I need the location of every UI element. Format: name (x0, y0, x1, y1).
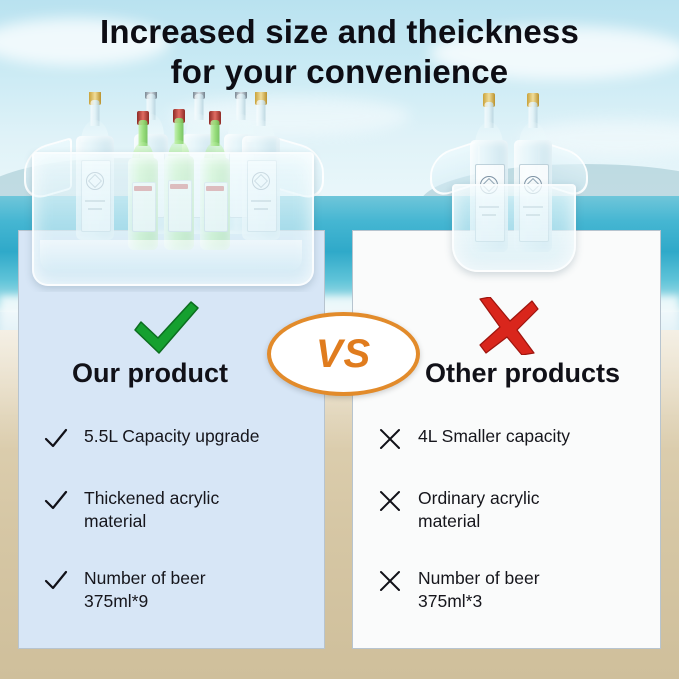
headline: Increased size and theickness for your c… (0, 12, 679, 92)
left-feature-text-3: Number of beer 375ml*9 (84, 567, 206, 613)
right-column-heading: Other products (425, 358, 620, 389)
acrylic-ice-bucket-small (452, 184, 576, 272)
right-feature-text-1: 4L Smaller capacity (418, 425, 570, 448)
right-feature-item-2: Ordinary acrylic material (378, 487, 540, 533)
vs-badge: VS (267, 312, 420, 396)
check-mark-large (131, 300, 201, 356)
right-feature-text-3: Number of beer 375ml*3 (418, 567, 540, 613)
left-feature-text-1: 5.5L Capacity upgrade (84, 425, 259, 448)
check-icon (44, 489, 68, 513)
check-icon (44, 569, 68, 593)
right-feature-item-1: 4L Smaller capacity (378, 425, 570, 451)
cross-icon (378, 427, 402, 451)
cross-icon (378, 489, 402, 513)
headline-line-1: Increased size and theickness (0, 12, 679, 52)
cross-mark-large (474, 297, 540, 355)
left-feature-item-3: Number of beer 375ml*9 (44, 567, 206, 613)
left-product-photo (18, 92, 325, 292)
product-comparison-image: Increased size and theickness for your c… (0, 0, 679, 679)
left-feature-item-1: 5.5L Capacity upgrade (44, 425, 259, 451)
left-column-heading: Our product (72, 358, 228, 389)
vs-label: VS (316, 332, 371, 377)
cross-icon (378, 569, 402, 593)
left-feature-item-2: Thickened acrylic material (44, 487, 219, 533)
right-feature-text-2: Ordinary acrylic material (418, 487, 540, 533)
right-product-photo (352, 92, 661, 292)
headline-line-2: for your convenience (0, 52, 679, 92)
left-feature-text-2: Thickened acrylic material (84, 487, 219, 533)
check-icon (44, 427, 68, 451)
bucket-base-reflection (40, 240, 302, 272)
right-feature-item-3: Number of beer 375ml*3 (378, 567, 540, 613)
